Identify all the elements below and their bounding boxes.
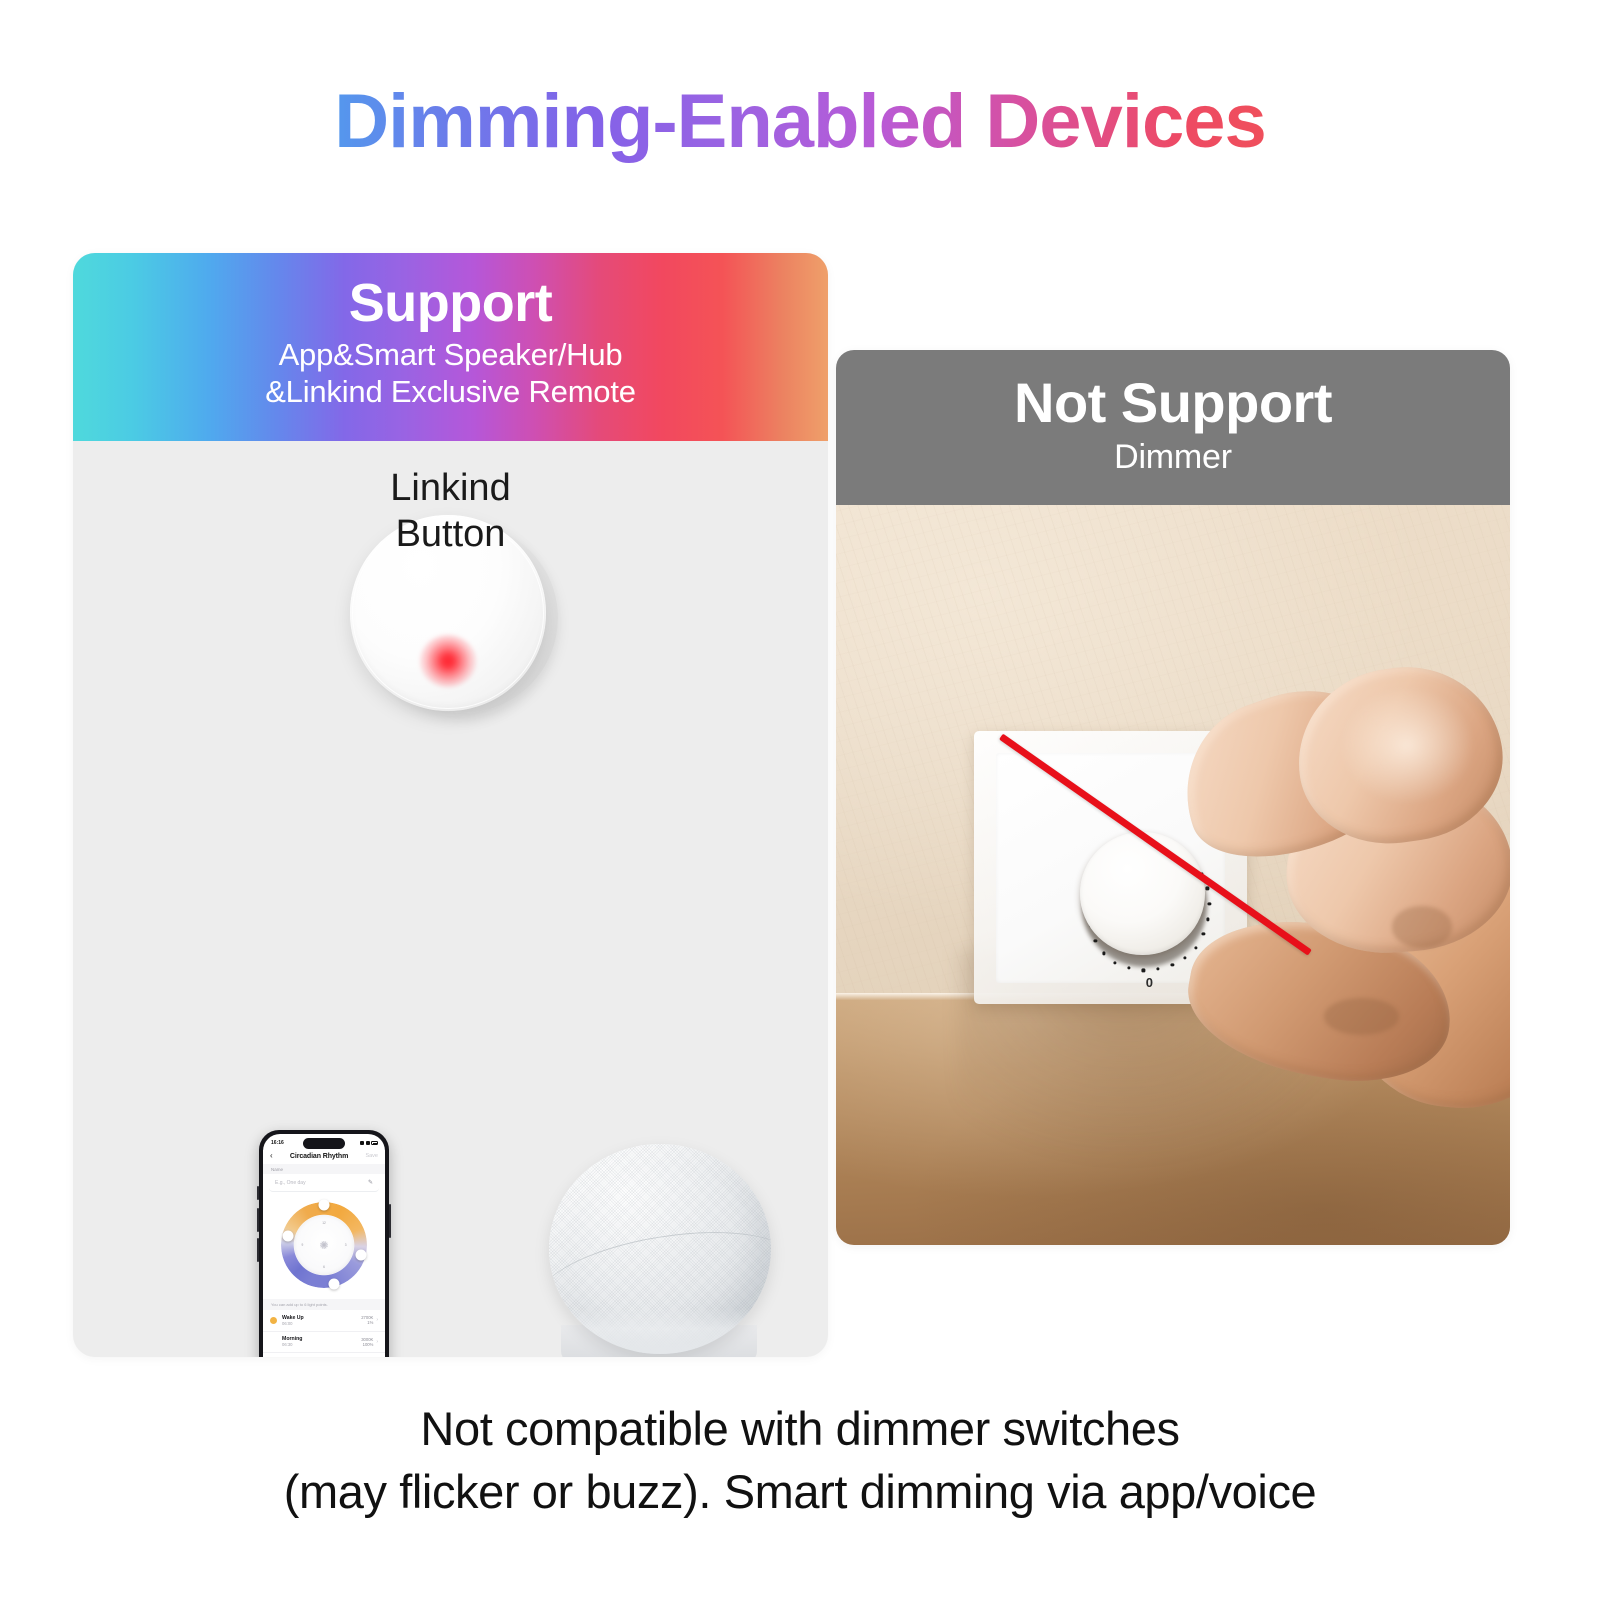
phone-nav-title: Circadian Rhythm — [290, 1153, 348, 1160]
speaker-sphere — [549, 1144, 771, 1354]
dial-handle-night[interactable] — [329, 1278, 340, 1289]
scene-info: Wake Up 06:00 — [282, 1315, 361, 1327]
back-chevron-icon[interactable]: ‹ — [270, 1152, 273, 1160]
list-item[interactable]: Day 07:00 4000K 60% › — [263, 1353, 385, 1357]
bottom-caption: Not compatible with dimmer switches (may… — [0, 1398, 1600, 1524]
edit-pencil-icon[interactable]: ✎ — [368, 1179, 373, 1186]
circadian-dial-card: 12 3 6 9 ☼ — [269, 1196, 379, 1295]
not-support-panel: Not Support Dimmer — [836, 350, 1510, 1245]
scene-values: 2700K 1% — [361, 1315, 373, 1326]
signal-icon — [360, 1141, 364, 1145]
chevron-right-icon[interactable]: › — [376, 1339, 378, 1345]
chevron-right-icon[interactable]: › — [376, 1317, 378, 1323]
phone-power-button[interactable] — [389, 1204, 391, 1238]
hand-crease — [1324, 998, 1399, 1035]
light-points-hint: You can add up to 6 light points. — [263, 1299, 385, 1310]
scene-time: 06:00 — [282, 1321, 361, 1326]
led-indicator-icon — [420, 635, 476, 687]
dial-inner-face: 12 3 6 9 ☼ — [294, 1215, 354, 1275]
not-support-header: Not Support Dimmer — [836, 350, 1510, 505]
dial-handle-day[interactable] — [355, 1250, 366, 1261]
phone-frame: 16:16 ‹ Circadian Rhythm Save Name — [259, 1130, 389, 1357]
smart-speaker-device — [525, 1138, 795, 1357]
scene-values: 3000K 100% — [361, 1337, 373, 1348]
phone-nav-bar: ‹ Circadian Rhythm Save — [263, 1150, 385, 1164]
name-input-row[interactable]: E.g., One day ✎ — [269, 1174, 379, 1192]
support-subtitle: App&Smart Speaker/Hub &Linkind Exclusive… — [73, 337, 828, 410]
scene-color-dot — [270, 1317, 277, 1324]
linkind-button-label: Linkind Button — [73, 465, 828, 558]
dimmer-zero-label: 0 — [1146, 975, 1153, 990]
dial-handle-morning[interactable] — [282, 1231, 293, 1242]
name-input[interactable]: E.g., One day — [275, 1180, 306, 1186]
scene-time: 06:30 — [282, 1342, 361, 1347]
app-phone-device: 16:16 ‹ Circadian Rhythm Save Name — [259, 1130, 389, 1357]
support-panel: Support App&Smart Speaker/Hub &Linkind E… — [73, 253, 828, 1357]
dimmer-switch-photo: 0 — [836, 505, 1510, 1245]
phone-mute-button[interactable] — [257, 1186, 259, 1200]
hand-highlight — [1339, 686, 1475, 805]
page-title: Dimming-Enabled Devices — [0, 78, 1600, 165]
hand-knuckle — [1392, 906, 1452, 947]
scene-percent: 100% — [361, 1342, 373, 1347]
support-header: Support App&Smart Speaker/Hub &Linkind E… — [73, 253, 828, 441]
circadian-dial[interactable]: 12 3 6 9 ☼ — [281, 1202, 367, 1288]
wifi-icon — [366, 1141, 370, 1145]
save-button[interactable]: Save — [365, 1153, 378, 1159]
infographic-page: Dimming-Enabled Devices Support App&Smar… — [0, 0, 1600, 1600]
dial-number-3: 3 — [345, 1243, 347, 1247]
list-item[interactable]: Wake Up 06:00 2700K 1% › — [263, 1310, 385, 1332]
battery-icon — [371, 1141, 378, 1145]
sun-icon: ☼ — [322, 1242, 327, 1248]
not-support-subtitle: Dimmer — [836, 438, 1510, 477]
dial-number-6: 6 — [323, 1265, 325, 1269]
dial-number-12: 12 — [322, 1221, 326, 1225]
name-section-label: Name — [263, 1164, 385, 1174]
status-time: 16:16 — [271, 1140, 284, 1146]
phone-notch — [303, 1138, 345, 1149]
phone-volume-down-button[interactable] — [257, 1238, 259, 1262]
scene-info: Morning 06:30 — [282, 1336, 361, 1348]
not-support-title: Not Support — [836, 372, 1510, 434]
dial-handle-wake[interactable] — [319, 1200, 330, 1211]
dial-number-9: 9 — [302, 1243, 304, 1247]
scene-color-dot — [270, 1339, 277, 1346]
list-item[interactable]: Morning 06:30 3000K 100% › — [263, 1332, 385, 1354]
phone-screen: 16:16 ‹ Circadian Rhythm Save Name — [263, 1134, 385, 1357]
support-title: Support — [73, 273, 828, 333]
scene-percent: 1% — [361, 1320, 373, 1325]
phone-volume-up-button[interactable] — [257, 1208, 259, 1232]
status-icons — [360, 1141, 378, 1145]
